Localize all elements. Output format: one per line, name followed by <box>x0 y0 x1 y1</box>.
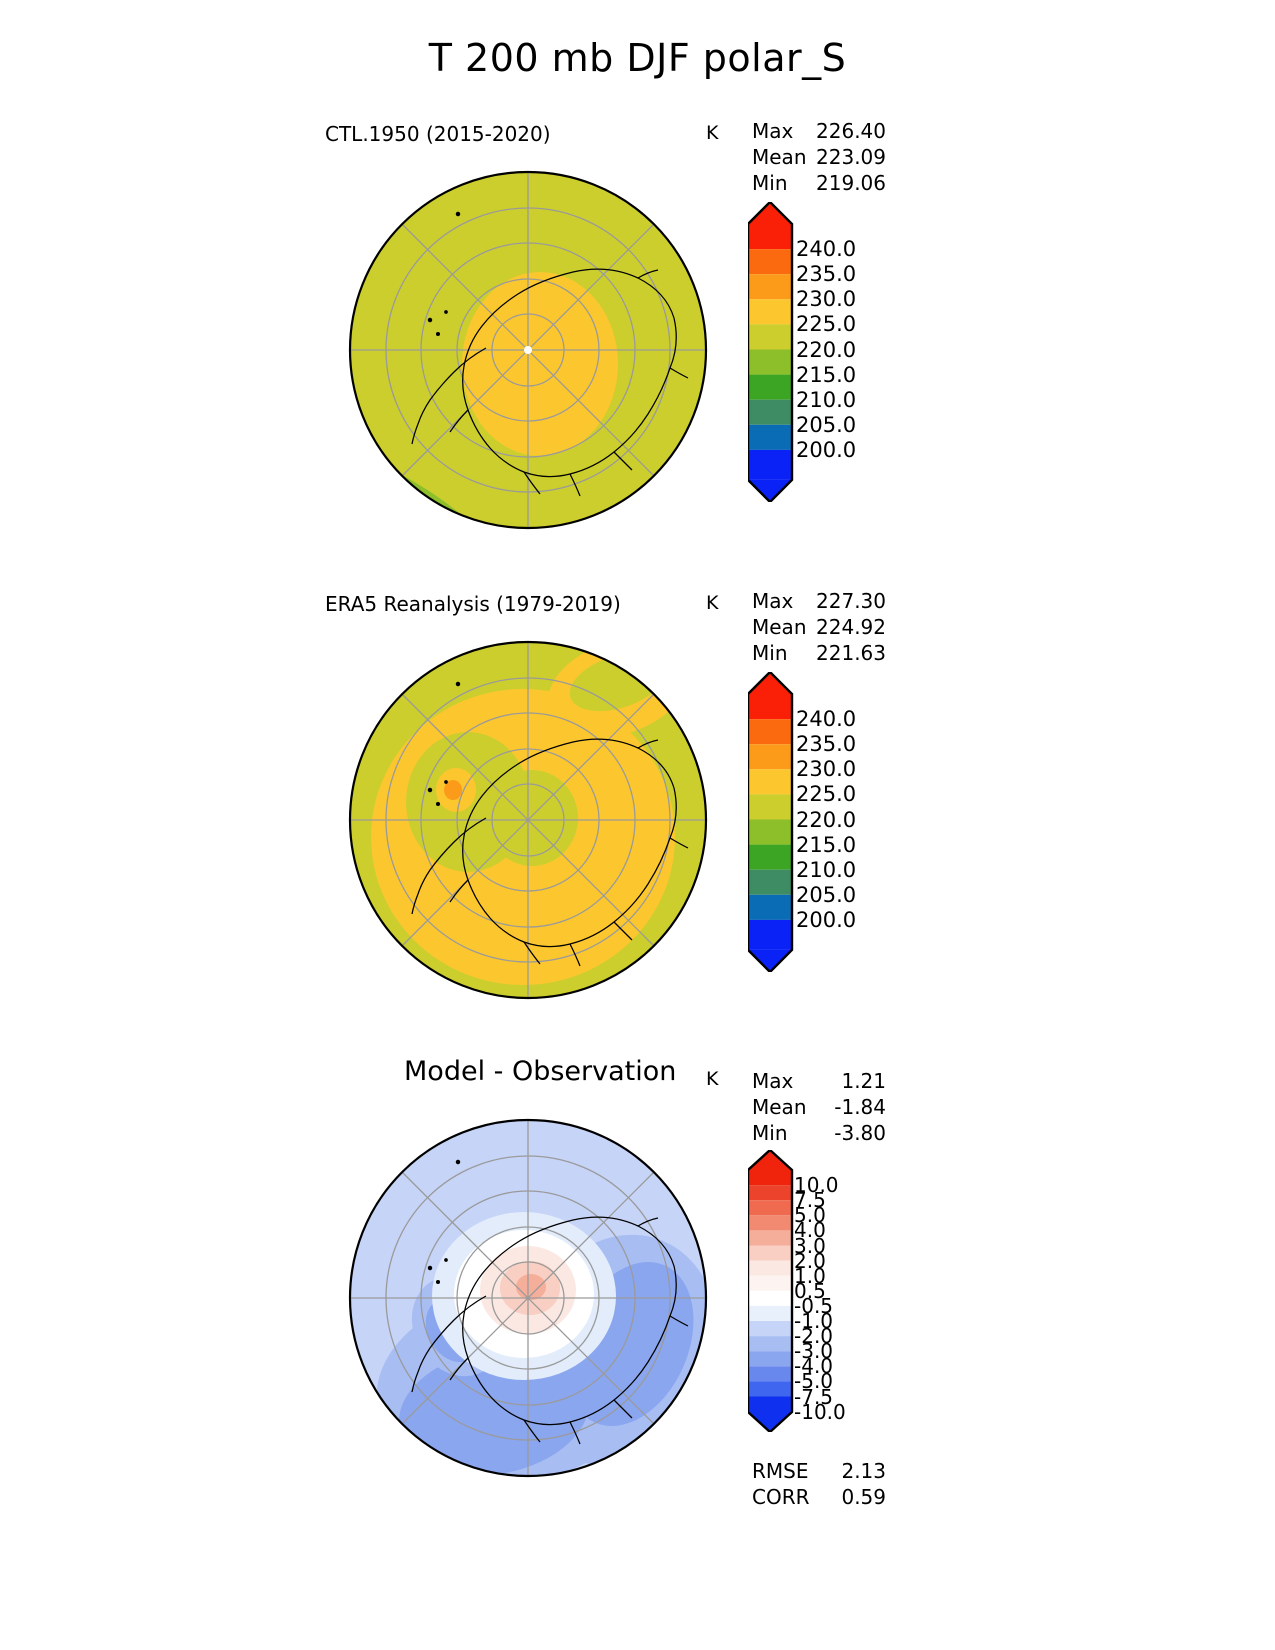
stats-block: Max227.30 Mean224.92 Min221.63 <box>752 588 886 666</box>
cbar-tick: 220.0 <box>796 808 856 832</box>
stat-value: -3.80 <box>814 1120 886 1146</box>
stat-label: Max <box>752 588 814 614</box>
cbar-tick: 225.0 <box>796 782 856 806</box>
stat-value: 1.21 <box>814 1068 886 1094</box>
skill-row: CORR0.59 <box>752 1484 886 1510</box>
graticule <box>350 1120 706 1476</box>
stat-row: Max227.30 <box>752 588 886 614</box>
stat-row: Min219.06 <box>752 170 886 196</box>
colorbar-model[interactable]: 240.0 235.0 230.0 225.0 220.0 215.0 210.… <box>748 202 794 502</box>
polar-map-model <box>318 152 738 552</box>
stat-value: 226.40 <box>814 118 886 144</box>
stat-label: Min <box>752 170 814 196</box>
stat-value: -1.84 <box>814 1094 886 1120</box>
cbar-tick: 200.0 <box>796 908 856 932</box>
stat-value: 219.06 <box>814 170 886 196</box>
graticule <box>350 642 706 998</box>
stat-row: Mean223.09 <box>752 144 886 170</box>
stats-block: Max1.21 Mean-1.84 Min-3.80 <box>752 1068 886 1146</box>
polar-stereographic-plot <box>318 622 738 1022</box>
pole-marker <box>524 346 532 354</box>
panel-title: ERA5 Reanalysis (1979-2019) <box>325 592 621 616</box>
cbar-tick: 230.0 <box>796 757 856 781</box>
stat-label: Max <box>752 1068 814 1094</box>
cbar-tick: 215.0 <box>796 363 856 387</box>
cbar-tick: 210.0 <box>796 858 856 882</box>
unit-label: K <box>706 122 718 144</box>
colorbar-gradient <box>748 672 794 972</box>
stat-label: Mean <box>752 1094 814 1120</box>
stats-block: Max226.40 Mean223.09 Min219.06 <box>752 118 886 196</box>
cbar-tick: 225.0 <box>796 312 856 336</box>
stat-row: Mean224.92 <box>752 614 886 640</box>
colorbar-difference[interactable]: 10.0 7.5 5.0 4.0 3.0 2.0 1.0 0.5 -0.5 -1… <box>748 1150 794 1432</box>
page-title: T 200 mb DJF polar_S <box>0 36 1275 80</box>
stat-row: Min-3.80 <box>752 1120 886 1146</box>
stat-row: Max1.21 <box>752 1068 886 1094</box>
stat-value: 224.92 <box>814 614 886 640</box>
cbar-tick: 240.0 <box>796 707 856 731</box>
polar-map-difference <box>318 1100 738 1500</box>
cbar-tick: 205.0 <box>796 413 856 437</box>
stat-value: 221.63 <box>814 640 886 666</box>
stat-row: Mean-1.84 <box>752 1094 886 1120</box>
colorbar-observation[interactable]: 240.0 235.0 230.0 225.0 220.0 215.0 210.… <box>748 672 794 972</box>
cbar-tick: 200.0 <box>796 438 856 462</box>
skill-label: RMSE <box>752 1458 814 1484</box>
stat-label: Max <box>752 118 814 144</box>
stat-row: Min221.63 <box>752 640 886 666</box>
cbar-tick: 210.0 <box>796 388 856 412</box>
cbar-tick: 215.0 <box>796 833 856 857</box>
stat-label: Mean <box>752 614 814 640</box>
polar-map-observation <box>318 622 738 1022</box>
cbar-tick: 205.0 <box>796 883 856 907</box>
cbar-tick: 235.0 <box>796 732 856 756</box>
cbar-tick: 230.0 <box>796 287 856 311</box>
skill-value: 2.13 <box>814 1458 886 1484</box>
stat-label: Mean <box>752 144 814 170</box>
stat-value: 227.30 <box>814 588 886 614</box>
cbar-tick: -10.0 <box>794 1400 846 1424</box>
skill-label: CORR <box>752 1484 814 1510</box>
stat-value: 223.09 <box>814 144 886 170</box>
unit-label: K <box>706 1068 718 1090</box>
polar-stereographic-plot <box>318 152 738 552</box>
polar-stereographic-plot <box>318 1100 738 1500</box>
cbar-tick: 240.0 <box>796 237 856 261</box>
skill-value: 0.59 <box>814 1484 886 1510</box>
cbar-tick: 235.0 <box>796 262 856 286</box>
panel-title: Model - Observation <box>404 1056 676 1087</box>
colorbar-gradient <box>748 202 794 502</box>
unit-label: K <box>706 592 718 614</box>
stat-row: Max226.40 <box>752 118 886 144</box>
skill-scores-block: RMSE2.13 CORR0.59 <box>752 1458 886 1510</box>
cbar-tick: 220.0 <box>796 338 856 362</box>
colorbar-gradient <box>748 1150 794 1432</box>
skill-row: RMSE2.13 <box>752 1458 886 1484</box>
panel-title: CTL.1950 (2015-2020) <box>325 122 551 146</box>
stat-label: Min <box>752 1120 814 1146</box>
stat-label: Min <box>752 640 814 666</box>
